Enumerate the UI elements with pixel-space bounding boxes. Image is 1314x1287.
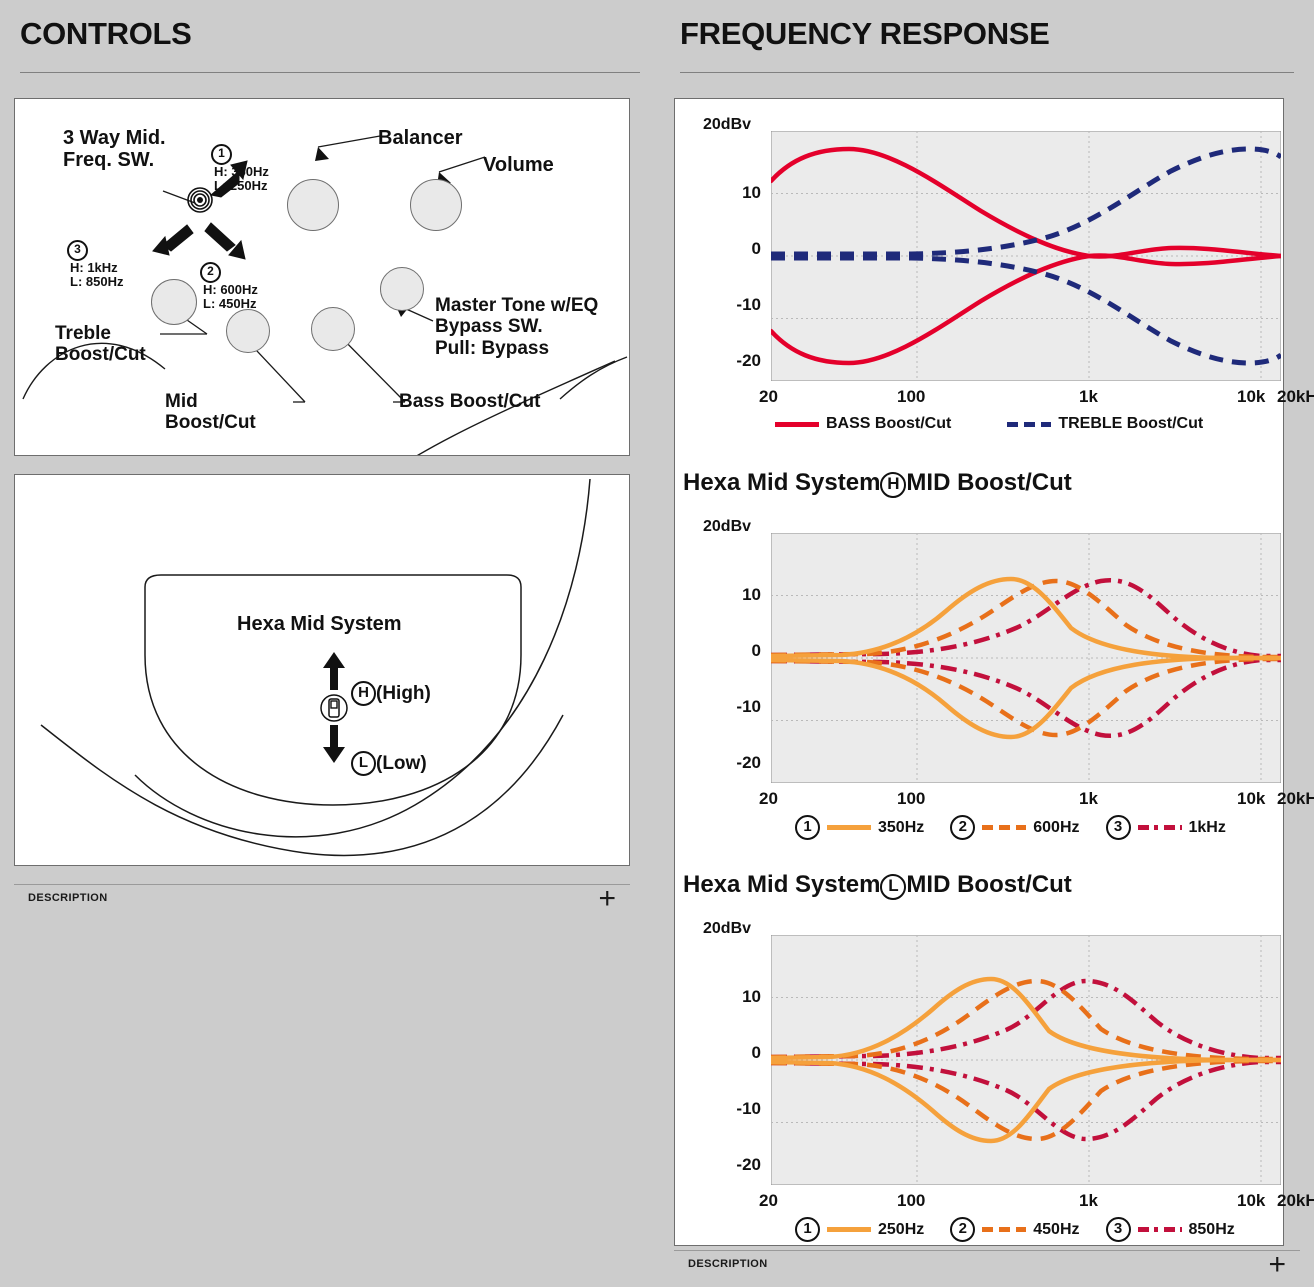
legend-swatch-bass	[775, 422, 819, 427]
toggle-switch-icon[interactable]	[319, 693, 349, 723]
chart3-ytick-neg10: -10	[703, 1099, 761, 1119]
expand-plus-icon-right[interactable]: +	[1268, 1247, 1286, 1283]
legend-item-250hz: 1 250Hz	[795, 1217, 924, 1242]
legend-item-450hz: 2 450Hz	[950, 1217, 1079, 1242]
chart3-title: Hexa Mid SystemLMID Boost/Cut	[683, 871, 1072, 900]
legend-circled-number-2-low: 2	[950, 1217, 975, 1242]
page-title-controls: CONTROLS	[20, 16, 192, 52]
legend-item-850hz: 3 850Hz	[1106, 1217, 1235, 1242]
chart2-title: Hexa Mid SystemHMID Boost/Cut	[683, 469, 1072, 498]
chart1-ytick-neg10: -10	[703, 295, 761, 315]
label-volume: Volume	[483, 154, 554, 176]
circled-number-1: 1	[211, 144, 232, 165]
legend-swatch-850hz	[1138, 1227, 1182, 1232]
controls-column: CONTROLS	[0, 0, 660, 1287]
legend-circled-number-1-low: 1	[795, 1217, 820, 1242]
legend-swatch-450hz	[982, 1227, 1026, 1232]
chart1-plot-area	[771, 131, 1281, 381]
chart3-legend: 1 250Hz 2 450Hz 3 850Hz	[795, 1217, 1235, 1242]
circled-number-2: 2	[200, 262, 221, 283]
circled-number-3: 3	[67, 240, 88, 261]
chart1-legend: BASS Boost/Cut TREBLE Boost/Cut	[775, 415, 1203, 433]
hexa-panel-title: Hexa Mid System	[237, 613, 402, 635]
label-master-tone: Master Tone w/EQ Bypass SW. Pull: Bypass	[435, 295, 598, 359]
chart1-xtick-20khz: 20kHz	[1277, 387, 1314, 407]
knob-mid[interactable]	[226, 309, 270, 353]
label-three-way-switch: 3 Way Mid. Freq. SW.	[63, 127, 166, 172]
legend-swatch-1khz	[1138, 825, 1182, 830]
legend-label-1khz: 1kHz	[1189, 819, 1226, 837]
label-treble: Treble Boost/Cut	[55, 323, 146, 366]
chart2-title-prefix: Hexa Mid System	[683, 469, 880, 496]
chart2-title-marker-h: H	[880, 472, 906, 498]
low-text: (Low)	[376, 753, 427, 774]
description-rule-right	[674, 1250, 1300, 1251]
legend-item-600hz: 2 600Hz	[950, 815, 1079, 840]
chart1-ytick-neg20: -20	[703, 351, 761, 371]
description-label-right: DESCRIPTION	[688, 1258, 768, 1270]
label-low: L(Low)	[351, 730, 427, 776]
chart1-xtick-100: 100	[897, 387, 925, 407]
up-arrow-icon	[320, 650, 348, 692]
chart3-ytick-10: 10	[703, 987, 761, 1007]
chart3-title-prefix: Hexa Mid System	[683, 871, 880, 898]
label-position-2: 2 H: 600Hz L: 450Hz	[200, 247, 258, 312]
legend-circled-number-3: 3	[1106, 815, 1131, 840]
position-1-text: H: 350Hz L: 250Hz	[214, 165, 269, 194]
chart3-xtick-1k: 1k	[1079, 1191, 1098, 1211]
legend-item-350hz: 1 350Hz	[795, 815, 924, 840]
chart-bass-treble: 20dBv 10 0 -10 -20	[675, 99, 1285, 439]
circled-marker-l: L	[351, 751, 376, 776]
legend-swatch-treble	[1007, 422, 1051, 427]
chart2-ytick-10: 10	[703, 585, 761, 605]
knob-treble[interactable]	[151, 279, 197, 325]
expand-plus-icon-left[interactable]: +	[598, 881, 616, 917]
knob-balancer[interactable]	[287, 179, 339, 231]
chart1-ytick-10: 10	[703, 183, 761, 203]
frequency-response-column: FREQUENCY RESPONSE 20dBv 10 0 -10 -20	[660, 0, 1314, 1287]
legend-item-treble: TREBLE Boost/Cut	[1007, 415, 1203, 433]
chart1-xtick-10k: 10k	[1237, 387, 1265, 407]
legend-item-bass: BASS Boost/Cut	[775, 415, 951, 433]
chart2-xtick-1k: 1k	[1079, 789, 1098, 809]
chart-hexa-mid-low: 20dBv 10 0 -10 -20	[675, 903, 1285, 1243]
label-position-3: 3 H: 1kHz L: 850Hz	[67, 225, 123, 290]
knob-volume[interactable]	[410, 179, 462, 231]
chart3-xtick-10k: 10k	[1237, 1191, 1265, 1211]
description-rule-left	[14, 884, 630, 885]
control-layout-panel: 3 Way Mid. Freq. SW. 1 H: 350Hz L: 250Hz…	[14, 98, 630, 456]
legend-item-1khz: 3 1kHz	[1106, 815, 1226, 840]
label-bass: Bass Boost/Cut	[399, 391, 540, 412]
description-bar-right[interactable]: DESCRIPTION +	[674, 1250, 1300, 1286]
legend-circled-number-2: 2	[950, 815, 975, 840]
chart3-xtick-20khz: 20kHz	[1277, 1191, 1314, 1211]
chart2-ylabel: 20dBv	[703, 518, 751, 536]
legend-label-250hz: 250Hz	[878, 1221, 924, 1239]
chart1-ytick-0: 0	[703, 239, 761, 259]
chart2-xtick-10k: 10k	[1237, 789, 1265, 809]
frequency-response-panel: 20dBv 10 0 -10 -20	[674, 98, 1284, 1246]
position-3-text: H: 1kHz L: 850Hz	[70, 261, 123, 290]
chart2-plot-area	[771, 533, 1281, 783]
chart-hexa-mid-high: 20dBv 10 0 -10 -20	[675, 501, 1285, 841]
legend-label-bass: BASS Boost/Cut	[826, 415, 951, 433]
chart1-xtick-1k: 1k	[1079, 387, 1098, 407]
legend-label-treble: TREBLE Boost/Cut	[1058, 415, 1203, 433]
chart2-xtick-20khz: 20kHz	[1277, 789, 1314, 809]
description-bar-left[interactable]: DESCRIPTION +	[14, 884, 630, 920]
label-high: H(High)	[351, 660, 431, 706]
label-mid: Mid Boost/Cut	[165, 391, 256, 434]
chart3-ytick-0: 0	[703, 1043, 761, 1063]
legend-swatch-350hz	[827, 825, 871, 830]
chart3-ylabel: 20dBv	[703, 920, 751, 938]
controls-header-rule	[20, 72, 640, 73]
hexa-mid-panel: Hexa Mid System H(High) L(Low)	[14, 474, 630, 866]
chart3-xtick-100: 100	[897, 1191, 925, 1211]
chart3-ytick-neg20: -20	[703, 1155, 761, 1175]
high-text: (High)	[376, 683, 431, 704]
legend-swatch-600hz	[982, 825, 1026, 830]
chart2-xtick-20: 20	[759, 789, 778, 809]
chart3-title-marker-l: L	[880, 874, 906, 900]
position-2-text: H: 600Hz L: 450Hz	[203, 283, 258, 312]
legend-label-600hz: 600Hz	[1033, 819, 1079, 837]
description-label-left: DESCRIPTION	[28, 892, 108, 904]
legend-swatch-250hz	[827, 1227, 871, 1232]
chart3-title-suffix: MID Boost/Cut	[906, 871, 1071, 898]
label-position-1: 1 H: 350Hz L: 250Hz	[211, 129, 269, 194]
chart3-plot-area	[771, 935, 1281, 1185]
chart2-ytick-neg20: -20	[703, 753, 761, 773]
legend-label-450hz: 450Hz	[1033, 1221, 1079, 1239]
knob-master-tone[interactable]	[380, 267, 424, 311]
chart2-legend: 1 350Hz 2 600Hz 3 1kHz	[795, 815, 1226, 840]
three-way-switch-icon[interactable]	[187, 187, 213, 213]
chart1-ylabel: 20dBv	[703, 116, 751, 134]
label-balancer: Balancer	[378, 127, 463, 149]
chart3-xtick-20: 20	[759, 1191, 778, 1211]
chart2-xtick-100: 100	[897, 789, 925, 809]
chart1-xtick-20: 20	[759, 387, 778, 407]
page-root: CONTROLS	[0, 0, 1314, 1287]
legend-label-850hz: 850Hz	[1189, 1221, 1235, 1239]
chart2-ytick-0: 0	[703, 641, 761, 661]
knob-bass[interactable]	[311, 307, 355, 351]
frequency-header-rule	[680, 72, 1294, 73]
chart2-ytick-neg10: -10	[703, 697, 761, 717]
page-title-frequency-response: FREQUENCY RESPONSE	[680, 16, 1050, 52]
down-arrow-icon	[320, 723, 348, 765]
legend-label-350hz: 350Hz	[878, 819, 924, 837]
legend-circled-number-3-low: 3	[1106, 1217, 1131, 1242]
legend-circled-number-1: 1	[795, 815, 820, 840]
circled-marker-h: H	[351, 681, 376, 706]
chart2-title-suffix: MID Boost/Cut	[906, 469, 1071, 496]
